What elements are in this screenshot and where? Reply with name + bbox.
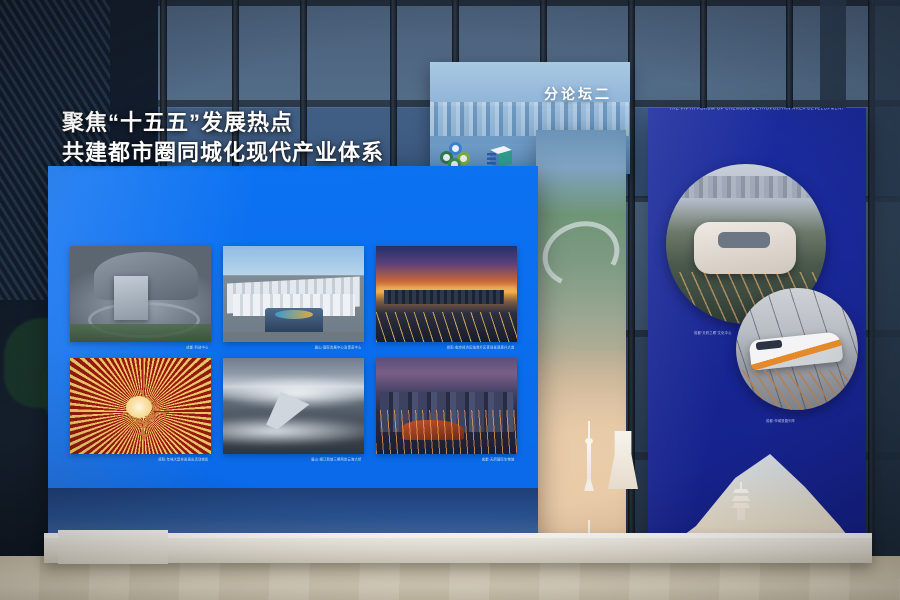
photo-caption: 德阳·年味大型实景演出活动掠影 [35, 454, 211, 463]
photo-night-cityscape [376, 358, 517, 454]
photo-cell: 成都·天府国际生物城 [376, 358, 517, 461]
photo-riverside-dusk [376, 246, 517, 342]
photo-gala-performance [70, 358, 211, 454]
photo-caption: 眉山·岷江新城三期两岸云海大桥 [188, 454, 364, 463]
exhibit-plinth-top [44, 533, 872, 538]
highway-interchange-pillar [536, 130, 626, 598]
photo-caption: 成都·科创中心 [35, 342, 211, 351]
photo-grid-row: 成都·科创中心 眉山·国际会展中心及博览中心 [70, 246, 518, 349]
photo-river-fog-bridge [223, 358, 364, 454]
photo-conference-center [70, 246, 211, 342]
headline-block: 聚焦“十五五”发展热点 共建都市圈同城化现代产业体系 [62, 108, 532, 168]
right-column-2 [872, 0, 900, 556]
photo-expo-center [223, 246, 364, 342]
photo-cell: 眉山·岷江新城三期两岸云海大桥 [223, 358, 364, 461]
photo-grid-row: 德阳·年味大型实景演出活动掠影 眉山·岷江新城三期两岸云海大桥 [70, 358, 518, 461]
metro-train-caption: 成都·市域铁路列车 [766, 418, 795, 424]
headline-line-2: 共建都市圈同城化现代产业体系 [62, 138, 532, 168]
forum-logo-en: THE FIFTH FORUM OF CHENGDU METROPOLITAN … [648, 108, 866, 111]
mini-tower-cutout [584, 421, 594, 491]
photo-caption: 眉山·国际会展中心及博览中心 [188, 342, 364, 351]
exhibit-plinth [44, 535, 872, 563]
photo-caption: 成都·天府国际生物城 [341, 454, 517, 463]
photo-cell: 眉山·国际会展中心及博览中心 [223, 246, 364, 349]
photo-cell: 德阳·年味大型实景演出活动掠影 [70, 358, 211, 461]
screenshot-stage: 分论坛二 [0, 0, 900, 600]
forum-logo: 第五届成都都市圈建设论坛 THE FIFTH FORUM OF CHENGDU … [662, 108, 852, 110]
arena-render-caption: 成都“天府之眼”文化中心 [694, 330, 732, 336]
metro-train-circle [736, 288, 858, 410]
pagoda-cutout [732, 482, 750, 520]
photo-cell: 资阳·临空经济区临港片区夜间景观提升大道 [376, 246, 517, 349]
exhibit-plinth-left-block [58, 530, 168, 564]
exhibit-structure: 第五届成都都市圈建设论坛 THE FIFTH FORUM OF CHENGDU … [48, 108, 860, 563]
headline-line-1: 聚焦“十五五”发展热点 [62, 108, 532, 138]
photo-cell: 成都·科创中心 [70, 246, 211, 349]
session-title: 分论坛二 [544, 84, 612, 104]
navy-board: 第五届成都都市圈建设论坛 THE FIFTH FORUM OF CHENGDU … [648, 108, 866, 598]
photo-grid: 成都·科创中心 眉山·国际会展中心及博览中心 [70, 246, 518, 470]
photo-caption: 资阳·临空经济区临港片区夜间景观提升大道 [341, 342, 517, 351]
